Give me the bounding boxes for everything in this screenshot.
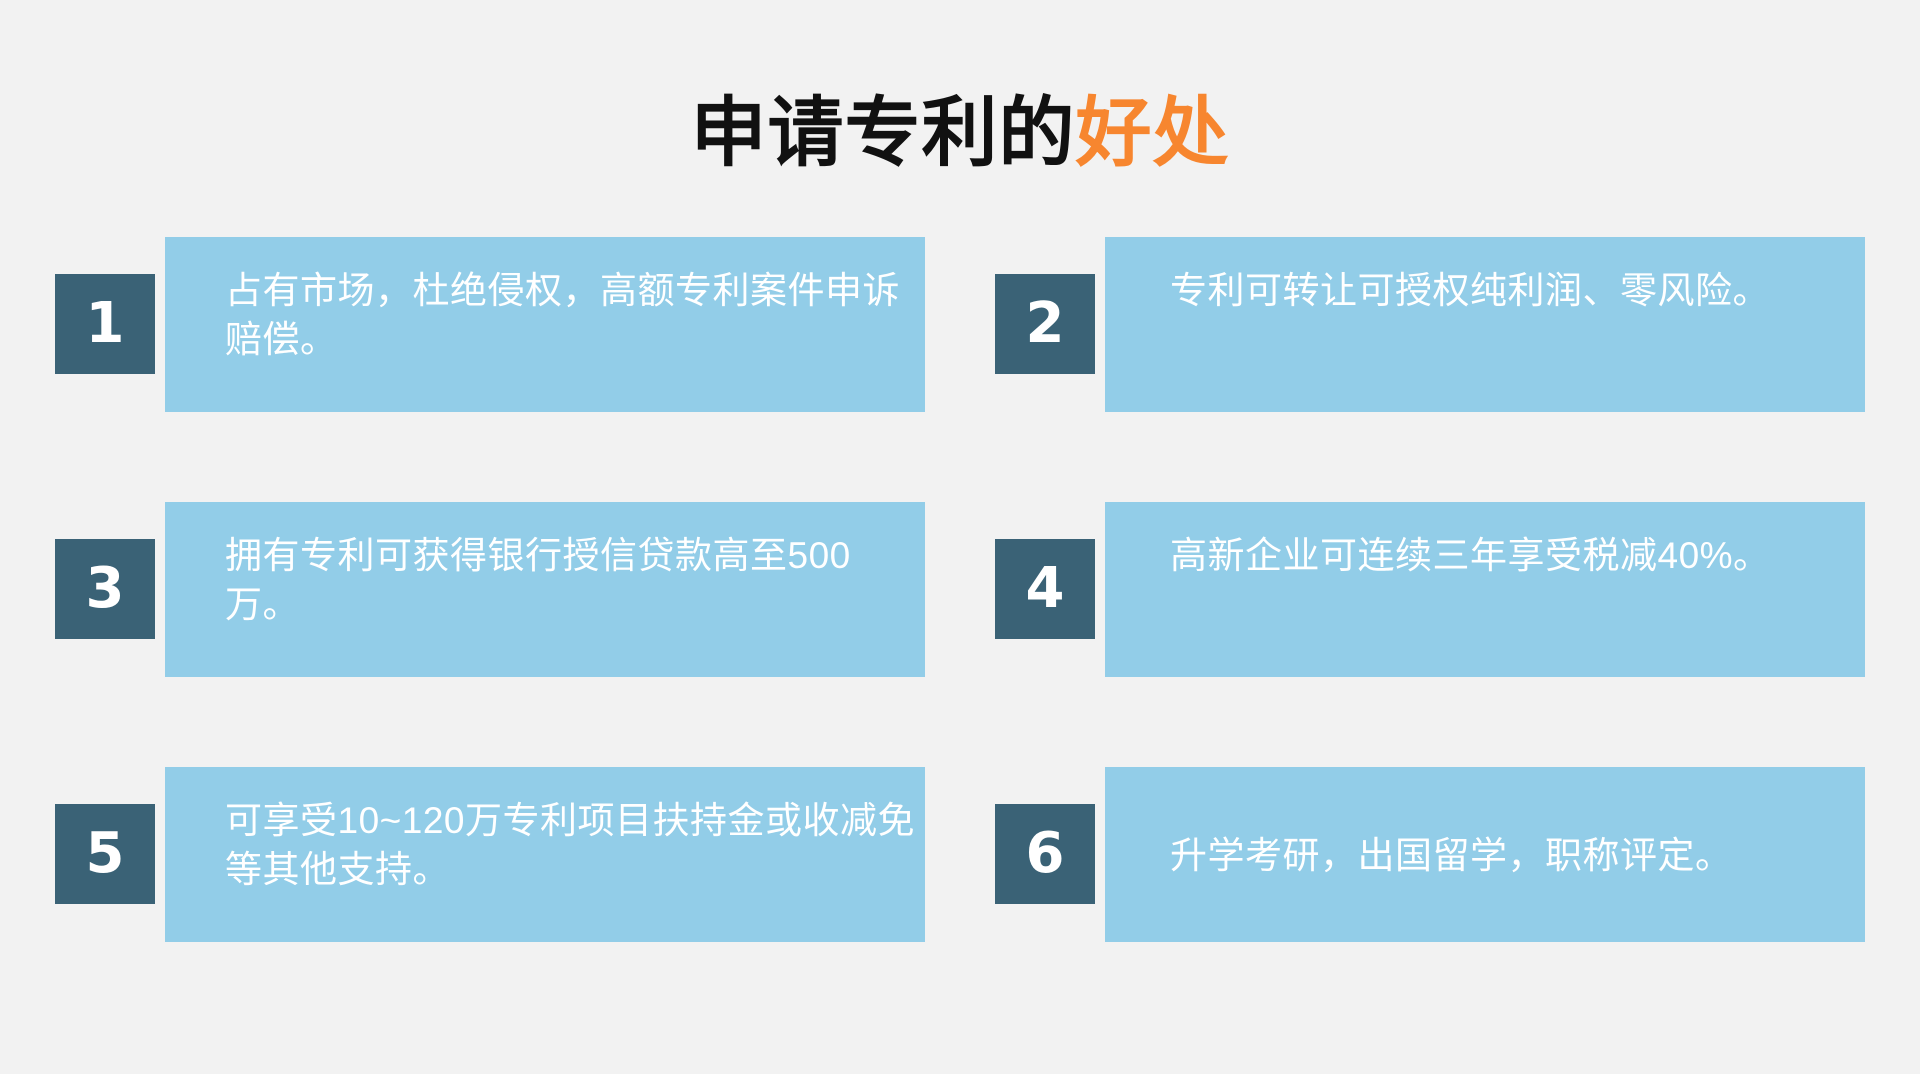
benefit-text-5: 可享受10~120万专利项目扶持金或收减免等其他支持。 [225,797,925,895]
benefit-number-6: 6 [1026,826,1065,882]
benefit-number-box-1: 1 [55,274,155,374]
benefit-panel-2 [1105,237,1865,412]
benefit-number-box-5: 5 [55,804,155,904]
benefit-number-1: 1 [86,296,125,352]
title-accent: 好处 [1076,91,1230,176]
title-text: 申请专利的好处 [691,96,1230,172]
benefit-number-box-3: 3 [55,539,155,639]
benefit-number-box-4: 4 [995,539,1095,639]
benefit-number-5: 5 [86,826,125,882]
benefit-number-3: 3 [86,561,125,617]
benefit-text-6: 升学考研，出国留学，职称评定。 [1170,832,1870,881]
benefit-number-box-6: 6 [995,804,1095,904]
infographic-page: 申请专利的好处 1 占有市场，杜绝侵权，高额专利案件申诉赔偿。 2 专利可转让可… [0,0,1920,1074]
benefit-number-2: 2 [1026,296,1065,352]
benefit-number-box-2: 2 [995,274,1095,374]
page-title: 申请专利的好处 [0,96,1920,172]
benefit-text-4: 高新企业可连续三年享受税减40%。 [1170,532,1870,581]
benefit-number-4: 4 [1026,561,1065,617]
benefits-grid: 1 占有市场，杜绝侵权，高额专利案件申诉赔偿。 2 专利可转让可授权纯利润、零风… [0,237,1920,957]
benefit-panel-4 [1105,502,1865,677]
benefit-text-2: 专利可转让可授权纯利润、零风险。 [1170,267,1870,316]
benefit-text-3: 拥有专利可获得银行授信贷款高至500万。 [225,532,925,630]
title-prefix: 申请专利的 [691,91,1076,176]
benefit-text-1: 占有市场，杜绝侵权，高额专利案件申诉赔偿。 [225,267,925,365]
